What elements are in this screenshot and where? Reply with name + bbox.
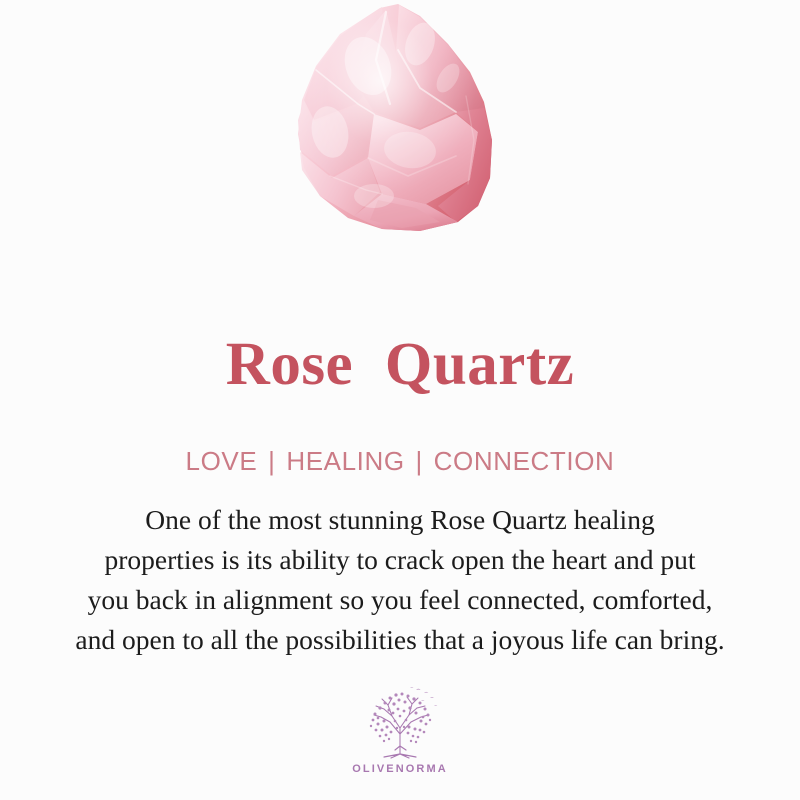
product-keywords: LOVE | HEALING | CONNECTION [0,446,800,477]
description-line: properties is its ability to crack open … [0,540,800,580]
description-line: you back in alignment so you feel connec… [0,580,800,620]
tree-of-life-logo-icon [354,684,446,760]
crystal-sheen [298,4,492,231]
description-line: and open to all the possibilities that a… [0,620,800,660]
crystal-facet-bottom [354,194,458,231]
crystal-body [298,4,492,231]
crystal-facet-upper-right [396,5,484,112]
product-poster: Rose Quartz LOVE | HEALING | CONNECTION … [0,0,800,800]
tree-branches [374,697,428,754]
crystal-facet-left [298,102,374,176]
crystal-facet-right [438,108,492,222]
page-title: Rose Quartz [0,333,800,397]
crystal-facet-top-center [354,10,456,128]
description-line: One of the most stunning Rose Quartz hea… [0,500,800,540]
crystal-facet-bottom-notch [370,200,440,228]
crystal-facet-upper-left [304,7,386,120]
birds-icon [410,687,437,706]
crystal-facet-lower-left [300,152,380,216]
crystal-facet-center [368,114,478,204]
brand-logo: OLIVENORMA [0,684,800,775]
product-image-container [0,0,800,310]
crystal-highlights [307,19,464,208]
product-description: One of the most stunning Rose Quartz hea… [0,500,800,660]
rose-quartz-crystal-icon [270,0,530,260]
brand-name: OLIVENORMA [352,763,448,775]
crystal-fractures [316,12,474,194]
